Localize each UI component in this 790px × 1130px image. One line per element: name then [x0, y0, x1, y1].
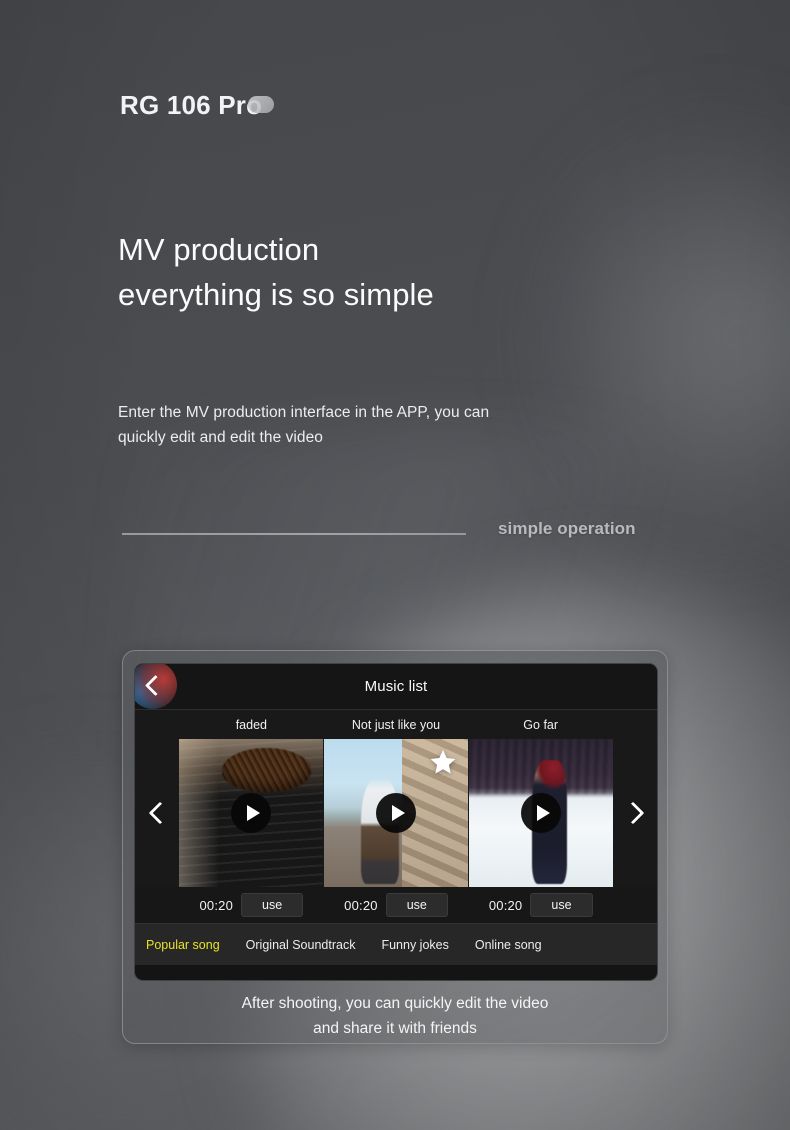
song-duration: 00:20 — [199, 898, 233, 913]
phone-mockup-card: Music list faded Not just like you Go fa… — [122, 650, 668, 1044]
song-titles-row: faded Not just like you Go far — [135, 710, 657, 739]
song-title: Not just like you — [324, 718, 469, 732]
carousel-next-button[interactable] — [613, 739, 657, 887]
subparagraph-line-2: quickly edit and edit the video — [118, 425, 489, 450]
song-carousel — [135, 739, 657, 887]
play-icon — [247, 805, 260, 821]
brand-name: RG 106 Pro — [120, 92, 262, 118]
song-duration: 00:20 — [344, 898, 378, 913]
play-button[interactable] — [231, 793, 271, 833]
headline-line-1: MV production — [118, 228, 434, 273]
page-subparagraph: Enter the MV production interface in the… — [118, 400, 489, 450]
headline-line-2: everything is so simple — [118, 273, 434, 318]
use-button[interactable]: use — [530, 893, 592, 917]
play-icon — [392, 805, 405, 821]
play-button[interactable] — [376, 793, 416, 833]
song-thumbnail[interactable] — [324, 739, 468, 887]
operation-caption: simple operation — [498, 519, 636, 539]
use-button[interactable]: use — [386, 893, 448, 917]
song-thumbnail[interactable] — [179, 739, 323, 887]
section-divider — [122, 533, 466, 535]
song-action-cell: 00:20 use — [468, 893, 613, 917]
back-button[interactable] — [134, 663, 177, 709]
card-caption-line-2: and share it with friends — [123, 1016, 667, 1041]
song-title: Go far — [468, 718, 613, 732]
tab-funny-jokes[interactable]: Funny jokes — [381, 938, 448, 952]
song-title: faded — [179, 718, 324, 732]
pill-badge-icon — [248, 96, 274, 113]
play-button[interactable] — [521, 793, 561, 833]
chevron-left-icon — [145, 674, 166, 695]
app-header: Music list — [135, 664, 657, 710]
tab-popular-song[interactable]: Popular song — [146, 938, 220, 952]
star-icon[interactable] — [429, 748, 457, 776]
song-action-cell: 00:20 use — [179, 893, 324, 917]
chevron-right-icon — [621, 802, 644, 825]
chevron-left-icon — [148, 802, 171, 825]
tab-online-song[interactable]: Online song — [475, 938, 542, 952]
card-caption-line-1: After shooting, you can quickly edit the… — [123, 991, 667, 1016]
play-icon — [537, 805, 550, 821]
tab-original-soundtrack[interactable]: Original Soundtrack — [246, 938, 356, 952]
page-headline: MV production everything is so simple — [118, 228, 434, 318]
app-title: Music list — [365, 678, 428, 695]
song-duration: 00:20 — [489, 898, 523, 913]
category-tab-bar: Popular song Original Soundtrack Funny j… — [135, 923, 657, 965]
song-thumbnail[interactable] — [469, 739, 613, 887]
song-action-cell: 00:20 use — [324, 893, 469, 917]
phone-screen: Music list faded Not just like you Go fa… — [134, 663, 658, 981]
subparagraph-line-1: Enter the MV production interface in the… — [118, 400, 489, 425]
card-caption: After shooting, you can quickly edit the… — [123, 991, 667, 1041]
brand-logo: RG 106 Pro — [120, 92, 274, 118]
song-actions-row: 00:20 use 00:20 use 00:20 use — [135, 887, 657, 923]
carousel-prev-button[interactable] — [135, 739, 179, 887]
use-button[interactable]: use — [241, 893, 303, 917]
